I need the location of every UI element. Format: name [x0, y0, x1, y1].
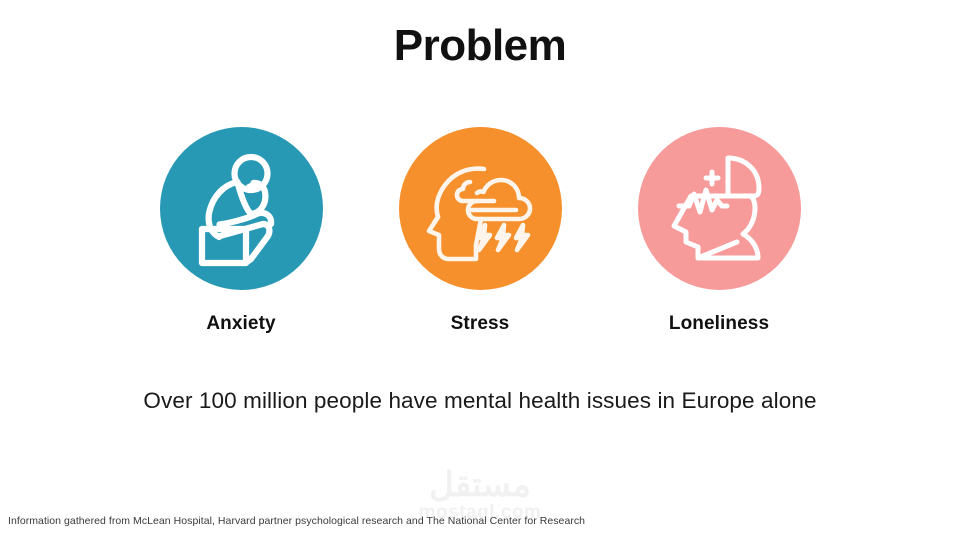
thinking-person-icon — [189, 151, 293, 267]
icon-circle-stress — [399, 127, 562, 290]
problem-card-stress[interactable]: Stress — [380, 127, 580, 335]
problem-card-loneliness[interactable]: Loneliness — [619, 127, 819, 335]
page-title: Problem — [0, 22, 960, 70]
head-heartbeat-icon — [665, 150, 773, 268]
icon-circle-anxiety — [160, 127, 323, 290]
statement-text: Over 100 million people have mental heal… — [0, 388, 960, 414]
icon-circle-loneliness — [638, 127, 801, 290]
problem-cards-row: Anxiety — [0, 127, 960, 347]
card-label-anxiety: Anxiety — [141, 313, 341, 335]
slide-canvas: Problem — [0, 0, 960, 540]
watermark: مستقل mostaql.com — [0, 468, 960, 522]
head-storm-cloud-icon — [424, 151, 536, 267]
card-label-loneliness: Loneliness — [619, 313, 819, 335]
source-note: Information gathered from McLean Hospita… — [8, 515, 585, 527]
watermark-arabic-text: مستقل — [0, 468, 960, 502]
problem-card-anxiety[interactable]: Anxiety — [141, 127, 341, 335]
card-label-stress: Stress — [380, 313, 580, 335]
